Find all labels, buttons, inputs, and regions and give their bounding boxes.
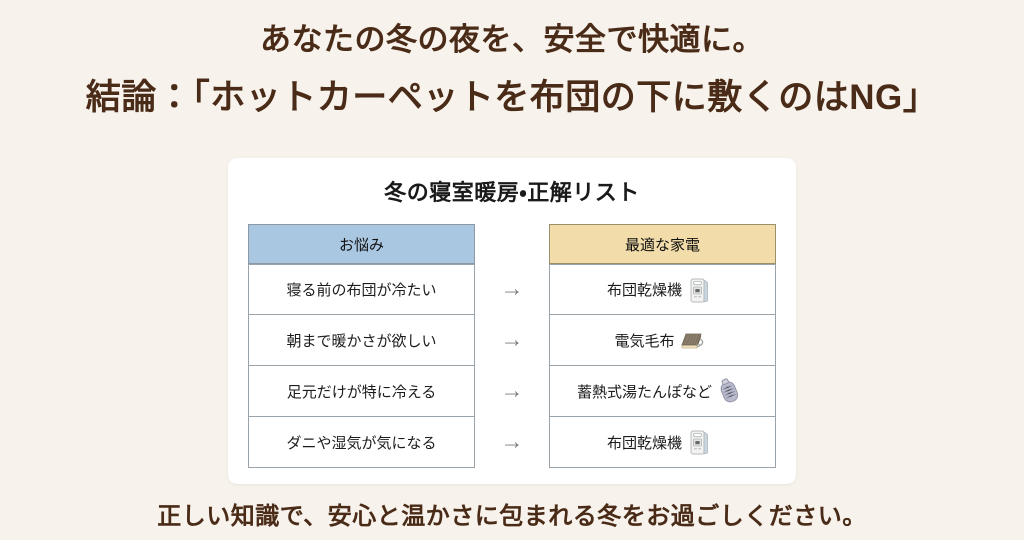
appliance-label: 布団乾燥機 [607, 432, 682, 453]
table-row: 電気毛布 [549, 315, 776, 366]
table-row: 足元だけが特に冷える [248, 366, 475, 417]
table-row: 寝る前の布団が冷たい [248, 264, 475, 315]
table-header-spacer [475, 224, 549, 264]
table-header-problem: お悩み [248, 224, 475, 264]
right-arrow-icon: → [501, 379, 524, 402]
recommendation-table: お悩み 最適な家電 寝る前の布団が冷たい → 布団乾燥機 朝 [248, 224, 776, 468]
table-row: ダニや湿気が気になる [248, 417, 475, 468]
card-title: 冬の寝室暖房・正解リスト [228, 175, 796, 207]
slide-canvas: { "headline": { "line1": "あなたの冬の夜を、安全で快適… [0, 0, 1024, 540]
footer-caption: 正しい知識で、安心と温かさに包まれる冬をお過ごしください。 [0, 496, 1024, 531]
electric-blanket-icon [677, 320, 707, 360]
table-header-appliance: 最適な家電 [549, 224, 776, 264]
arrow-cell: → [475, 315, 549, 366]
right-arrow-icon: → [501, 430, 524, 453]
futon-dryer-icon [684, 422, 714, 462]
headline-line-2: 結論：「ホットカーペットを布団の下に敷くのはNG」 [0, 70, 1024, 126]
right-arrow-icon: → [501, 277, 524, 300]
arrow-cell: → [475, 366, 549, 417]
hot-water-bottle-icon [714, 371, 744, 411]
table-row: 朝まで暖かさが欲しい [248, 315, 475, 366]
appliance-label: 蓄熱式湯たんぽなど [577, 381, 712, 402]
appliance-label: 布団乾燥機 [607, 279, 682, 300]
futon-dryer-icon [684, 270, 714, 310]
headline-block: あなたの冬の夜を、安全で快適に。 結論：「ホットカーペットを布団の下に敷くのはN… [0, 16, 1024, 126]
headline-line-1: あなたの冬の夜を、安全で快適に。 [0, 16, 1024, 64]
table-row: 布団乾燥機 [549, 417, 776, 468]
table-row: 布団乾燥機 [549, 264, 776, 315]
appliance-label: 電気毛布 [614, 330, 674, 351]
info-card: 冬の寝室暖房・正解リスト お悩み 最適な家電 寝る前の布団が冷たい → 布団乾燥… [228, 158, 796, 484]
arrow-cell: → [475, 264, 549, 315]
right-arrow-icon: → [501, 328, 524, 351]
table-row: 蓄熱式湯たんぽなど [549, 366, 776, 417]
arrow-cell: → [475, 417, 549, 468]
